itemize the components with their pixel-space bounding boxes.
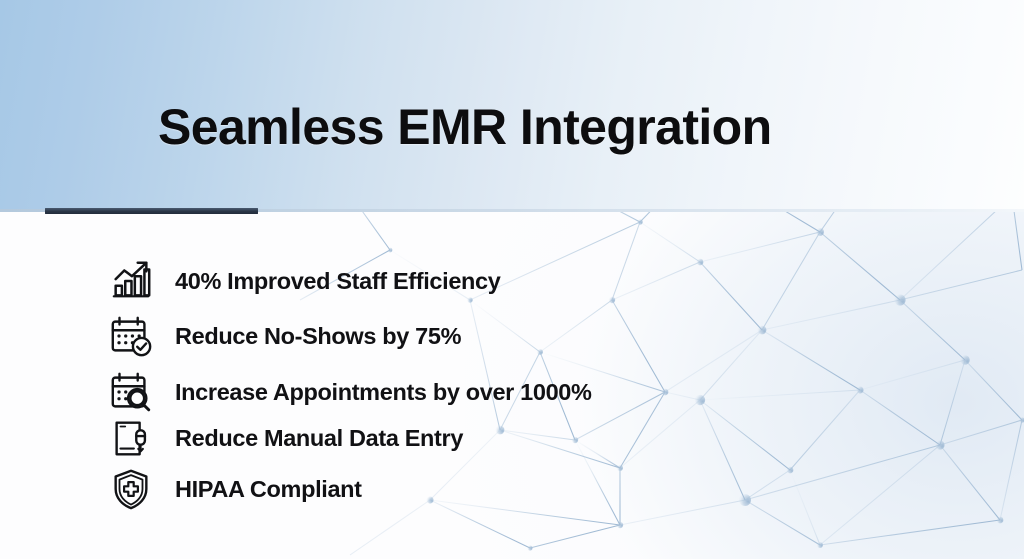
list-item-label: HIPAA Compliant xyxy=(175,463,362,515)
slide-root: Seamless EMR Integration 40% Improved St… xyxy=(0,0,1024,559)
calendar-search-icon xyxy=(104,366,158,418)
page-title: Seamless EMR Integration xyxy=(158,98,772,156)
calendar-check-icon xyxy=(104,310,158,362)
shield-medical-cross-icon xyxy=(104,463,158,515)
list-item-label: Reduce Manual Data Entry xyxy=(175,412,463,464)
list-item-label: Reduce No-Shows by 75% xyxy=(175,310,461,362)
bar-chart-growth-icon xyxy=(104,255,158,307)
list-item-label: 40% Improved Staff Efficiency xyxy=(175,255,500,307)
notepad-pen-icon xyxy=(104,412,158,464)
title-accent-rule xyxy=(45,208,258,214)
list-item-label: Increase Appointments by over 1000% xyxy=(175,366,592,418)
